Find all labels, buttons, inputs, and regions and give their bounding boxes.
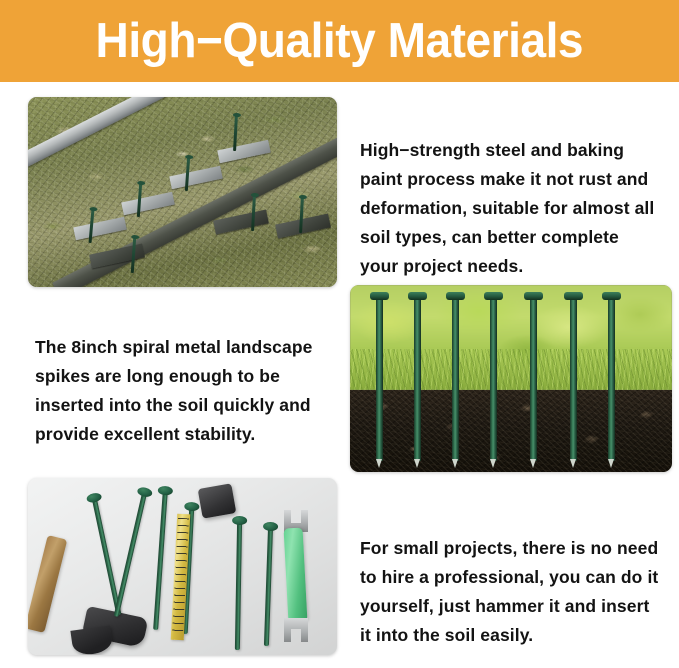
spike-head [564,292,583,300]
cross-section-spike [376,296,383,461]
spike-tip [376,459,382,468]
spike-head [232,516,247,525]
cross-section-spike [414,296,421,461]
grass-blade-texture [350,349,672,394]
cross-section-spike [570,296,577,461]
text-eight-inch-spikes: The 8inch spiral metal landscape spikes … [35,333,330,449]
spike-tip [530,459,536,468]
spikes-in-soil-cross-section-photo [350,285,672,472]
tools-and-spikes-photo [28,478,337,655]
tape-measure-case [198,483,237,518]
header-banner: High−Quality Materials [0,0,679,82]
metal-landscape-edging-photo [28,97,337,287]
spike-head [370,292,389,300]
spike-head [524,292,543,300]
spike-tip [570,459,576,468]
cross-section-spike [452,296,459,461]
spike-head [484,292,503,300]
soil-grain-overlay [350,390,672,472]
spike-tip [490,459,496,468]
cross-section-spike [530,296,537,461]
cross-section-spike [490,296,497,461]
page-title: High−Quality Materials [96,17,584,66]
spike-tip [452,459,458,468]
spike-tip [608,459,614,468]
spike-tip [414,459,420,468]
text-high-strength-steel: High−strength steel and baking paint pro… [360,136,662,281]
infographic-page: High−Quality Materials High−strength ste… [0,0,679,668]
text-small-projects: For small projects, there is no need to … [360,534,665,650]
spike-head [602,292,621,300]
cross-section-spike [608,296,615,461]
spike-head [408,292,427,300]
spike-head [446,292,465,300]
